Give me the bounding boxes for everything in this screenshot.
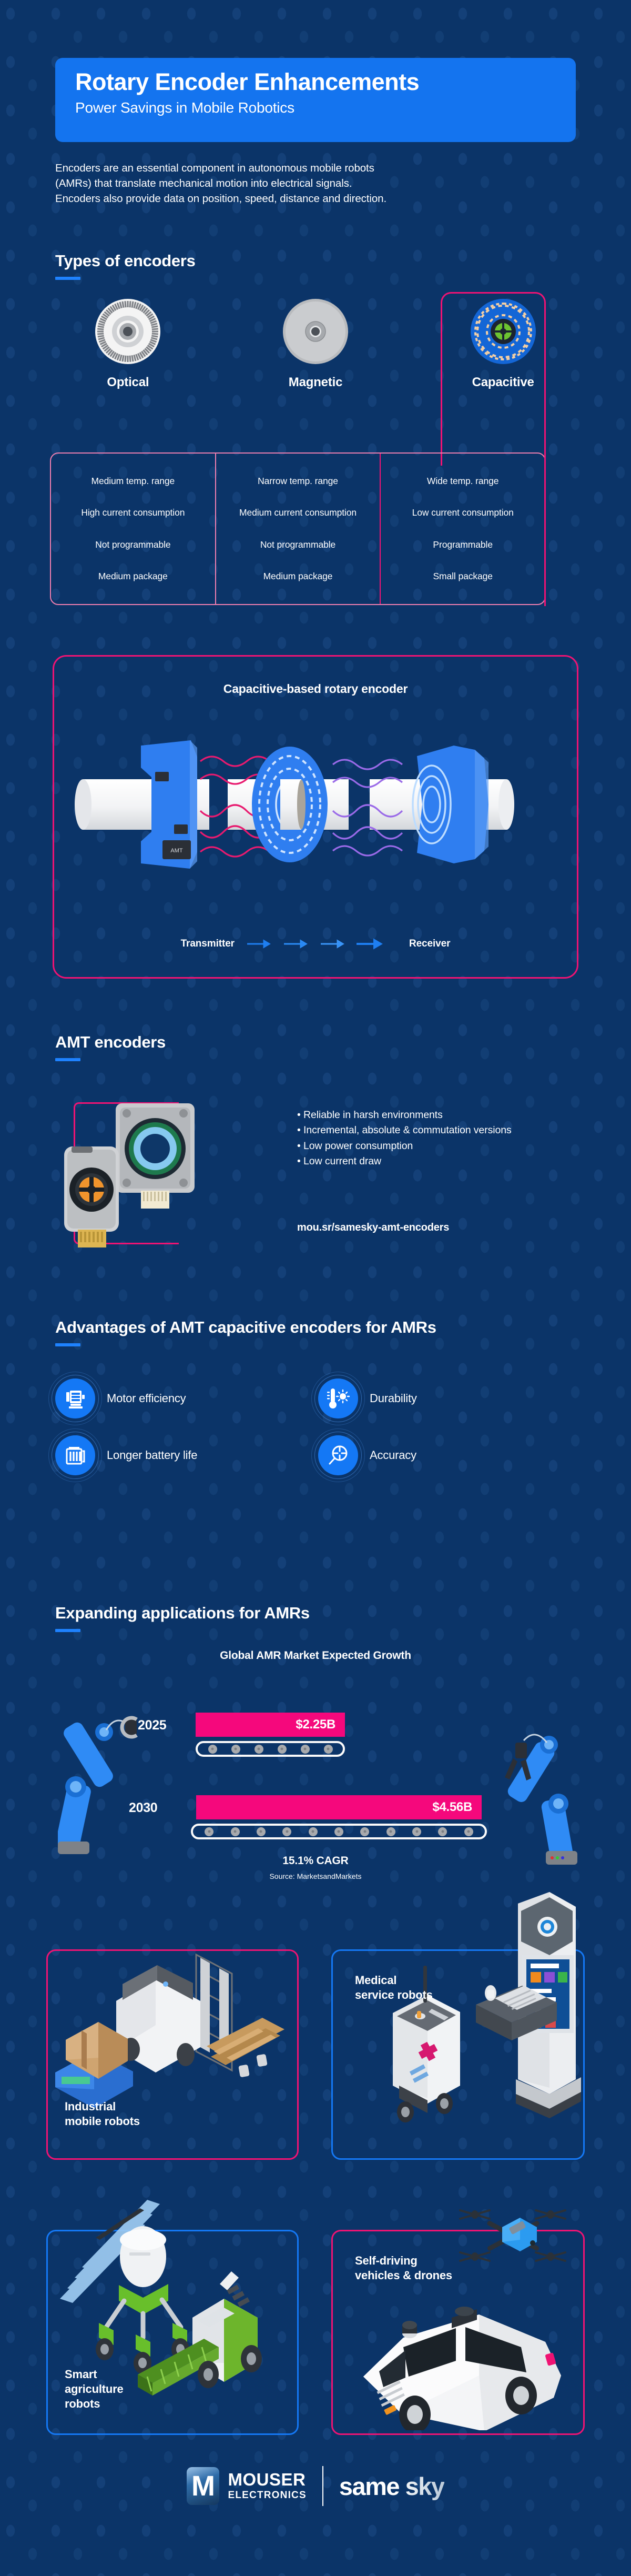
caption-line-1: Industrial bbox=[65, 2099, 140, 2114]
list-item: Low current draw bbox=[297, 1154, 571, 1169]
chart-source-label: Source: MarketsandMarkets bbox=[0, 1872, 631, 1880]
conveyor-belt-2030 bbox=[191, 1824, 487, 1839]
bar-value-label: $2.25B bbox=[296, 1717, 335, 1732]
advantage-label: Motor efficiency bbox=[107, 1392, 186, 1405]
conveyor-roller bbox=[278, 1745, 287, 1754]
conveyor-roller bbox=[282, 1827, 291, 1836]
encoder-type-label: Optical bbox=[34, 375, 222, 390]
heading-underline bbox=[55, 1343, 80, 1346]
conveyor-roller bbox=[464, 1827, 473, 1836]
heading-underline bbox=[55, 1629, 80, 1632]
advantage-accuracy: Accuracy bbox=[318, 1435, 581, 1475]
encoder-type-capacitive: Capacitive bbox=[409, 297, 597, 390]
advantage-label: Durability bbox=[370, 1392, 417, 1405]
caption-line-1: Self-driving bbox=[355, 2253, 452, 2268]
capacitive-encoder-disc-icon bbox=[409, 297, 597, 366]
application-panel-selfdriving: Self-driving vehicles & drones bbox=[331, 2230, 585, 2435]
optical-encoder-disc-icon bbox=[34, 297, 222, 366]
encoder-type-label: Capacitive bbox=[409, 375, 597, 390]
caption-line-2: agriculture bbox=[65, 2382, 124, 2397]
conveyor-roller bbox=[324, 1745, 333, 1754]
mouser-wordmark-line-2: ELECTRONICS bbox=[228, 2490, 306, 2501]
heading-underline bbox=[55, 277, 80, 280]
encoder-types-row: Optical Magnetic bbox=[34, 297, 597, 390]
section-heading-advantages: Advantages of AMT capacitive encoders fo… bbox=[55, 1318, 436, 1346]
application-panel-agriculture: Smart agriculture robots bbox=[46, 2230, 299, 2435]
bar-value-label: $4.56B bbox=[432, 1800, 472, 1815]
intro-paragraph: Encoders are an essential component in a… bbox=[55, 160, 560, 206]
application-caption: Industrial mobile robots bbox=[65, 2099, 140, 2129]
application-panel-industrial: Industrial mobile robots bbox=[46, 1949, 299, 2160]
self-driving-car-drone-art bbox=[343, 2193, 591, 2430]
thermometer-sun-icon bbox=[318, 1378, 358, 1418]
footer-divider bbox=[322, 2466, 323, 2506]
receiver-label: Receiver bbox=[409, 938, 450, 950]
cagr-annotation: 15.1% CAGR bbox=[0, 1855, 631, 1867]
advantages-grid: Motor efficiency bbox=[55, 1378, 581, 1492]
bar-year-label: 2030 bbox=[129, 1800, 157, 1816]
conveyor-roller bbox=[205, 1827, 213, 1836]
table-column-magnetic: Narrow temp. range Medium current consum… bbox=[215, 454, 380, 604]
capacitive-encoder-diagram-panel: Capacitive-based rotary encoder bbox=[53, 655, 578, 979]
caption-line-2: service robots bbox=[355, 1988, 433, 2003]
caption-line-2: mobile robots bbox=[65, 2114, 140, 2129]
conveyor-roller bbox=[438, 1827, 447, 1836]
heading-underline bbox=[55, 1058, 80, 1061]
conveyor-roller bbox=[208, 1745, 217, 1754]
conveyor-roller bbox=[386, 1827, 395, 1836]
magnetic-encoder-disc-icon bbox=[222, 297, 410, 366]
application-caption: Smart agriculture robots bbox=[65, 2367, 124, 2411]
battery-icon bbox=[55, 1435, 95, 1475]
mouser-wordmark-line-1: MOUSER bbox=[228, 2471, 306, 2488]
conveyor-roller bbox=[334, 1827, 343, 1836]
amr-market-growth-chart: Global AMR Market Expected Growth bbox=[0, 1649, 631, 1662]
conveyor-roller bbox=[255, 1745, 263, 1754]
diagram-flow-legend: Transmitter Receiver bbox=[54, 938, 577, 950]
section-heading-types: Types of encoders bbox=[55, 251, 196, 280]
transmitter-label: Transmitter bbox=[181, 938, 235, 950]
advantage-label: Longer battery life bbox=[107, 1448, 197, 1462]
table-cell: Programmable bbox=[433, 539, 493, 551]
section-heading-amt: AMT encoders bbox=[55, 1033, 166, 1061]
table-cell: Medium current consumption bbox=[239, 507, 357, 519]
conveyor-roller bbox=[412, 1827, 421, 1836]
caption-line-1: Smart bbox=[65, 2367, 124, 2382]
advantage-label: Accuracy bbox=[370, 1448, 416, 1462]
encoder-type-magnetic: Magnetic bbox=[222, 297, 410, 390]
conveyor-roller bbox=[231, 1745, 240, 1754]
footer-logos: M MOUSER ELECTRONICS same sky bbox=[0, 2441, 631, 2531]
encoder-comparison-table: Medium temp. range High current consumpt… bbox=[50, 452, 546, 605]
robot-arm-left-art bbox=[58, 1684, 142, 1863]
application-caption: Self-driving vehicles & drones bbox=[355, 2253, 452, 2283]
advantages-row: Motor efficiency bbox=[55, 1378, 581, 1418]
encoder-type-optical: Optical bbox=[34, 297, 222, 390]
intro-line-2: (AMRs) that translate mechanical motion … bbox=[55, 176, 560, 191]
magnifier-crosshair-icon bbox=[318, 1435, 358, 1475]
table-column-optical: Medium temp. range High current consumpt… bbox=[51, 454, 215, 604]
page-subtitle: Power Savings in Mobile Robotics bbox=[75, 99, 556, 116]
list-item: Reliable in harsh environments bbox=[297, 1108, 571, 1123]
conveyor-roller bbox=[301, 1745, 310, 1754]
diagram-illustration: AMT bbox=[54, 699, 580, 910]
list-item: Incremental, absolute & commutation vers… bbox=[297, 1123, 571, 1138]
table-cell: Medium package bbox=[98, 570, 168, 582]
conveyor-belt-2025 bbox=[196, 1741, 345, 1757]
caption-line-2: vehicles & drones bbox=[355, 2268, 452, 2283]
mouser-electronics-logo: M MOUSER ELECTRONICS bbox=[187, 2467, 306, 2505]
medical-service-robot-art bbox=[364, 1892, 606, 2145]
section-heading-advantages-label: Advantages of AMT capacitive encoders fo… bbox=[55, 1318, 436, 1337]
amt-feature-list: Reliable in harsh environments Increment… bbox=[297, 1108, 571, 1169]
section-heading-amt-label: AMT encoders bbox=[55, 1033, 166, 1052]
table-cell: High current consumption bbox=[81, 507, 185, 519]
chip-label: AMT bbox=[170, 848, 183, 854]
advantages-row: Longer battery life Accuracy bbox=[55, 1435, 581, 1475]
conveyor-roller bbox=[257, 1827, 266, 1836]
intro-line-1: Encoders are an essential component in a… bbox=[55, 160, 560, 176]
chart-title: Global AMR Market Expected Growth bbox=[0, 1649, 631, 1662]
conveyor-roller bbox=[360, 1827, 369, 1836]
page-title: Rotary Encoder Enhancements bbox=[75, 69, 556, 95]
amt-encoder-product-photo bbox=[53, 1097, 226, 1250]
conveyor-roller bbox=[231, 1827, 240, 1836]
diagram-title: Capacitive-based rotary encoder bbox=[54, 682, 577, 696]
section-heading-applications: Expanding applications for AMRs bbox=[55, 1604, 310, 1632]
caption-line-3: robots bbox=[65, 2397, 124, 2411]
conveyor-roller bbox=[309, 1827, 318, 1836]
warehouse-forklift-robot-art bbox=[43, 1917, 290, 2117]
table-cell: Not programmable bbox=[260, 539, 335, 551]
bar-year-label: 2025 bbox=[138, 1718, 166, 1733]
table-column-capacitive: Wide temp. range Low current consumption… bbox=[380, 454, 545, 604]
application-caption: Medical service robots bbox=[355, 1973, 433, 2003]
flow-arrows-icon bbox=[243, 938, 401, 950]
table-cell: Narrow temp. range bbox=[258, 475, 338, 487]
advantage-motor-efficiency: Motor efficiency bbox=[55, 1378, 318, 1418]
table-cell: Medium temp. range bbox=[91, 475, 175, 487]
section-heading-types-label: Types of encoders bbox=[55, 251, 196, 270]
bar-2030: $4.56B bbox=[196, 1795, 482, 1819]
same-sky-logo: same sky bbox=[339, 2472, 444, 2501]
bar-2025: $2.25B bbox=[196, 1713, 345, 1737]
intro-line-3: Encoders also provide data on position, … bbox=[55, 191, 560, 206]
motor-icon bbox=[55, 1378, 95, 1418]
advantage-durability: Durability bbox=[318, 1378, 581, 1418]
caption-line-1: Medical bbox=[355, 1973, 433, 1988]
table-cell: Wide temp. range bbox=[427, 475, 499, 487]
mouser-m-mark-icon: M bbox=[187, 2467, 219, 2505]
section-heading-applications-label: Expanding applications for AMRs bbox=[55, 1604, 310, 1623]
application-panel-medical: Medical service robots bbox=[331, 1949, 585, 2160]
mouser-wordmark: MOUSER ELECTRONICS bbox=[228, 2471, 306, 2501]
header-banner: Rotary Encoder Enhancements Power Saving… bbox=[55, 58, 576, 142]
table-cell: Low current consumption bbox=[412, 507, 514, 519]
encoder-type-label: Magnetic bbox=[222, 375, 410, 390]
advantage-battery-life: Longer battery life bbox=[55, 1435, 318, 1475]
table-cell: Small package bbox=[433, 570, 492, 582]
list-item: Low power consumption bbox=[297, 1139, 571, 1154]
table-cell: Not programmable bbox=[95, 539, 170, 551]
capacitive-highlight-edge bbox=[544, 452, 546, 606]
amt-product-link[interactable]: mou.sr/samesky-amt-encoders bbox=[297, 1222, 449, 1234]
table-cell: Medium package bbox=[263, 570, 333, 582]
